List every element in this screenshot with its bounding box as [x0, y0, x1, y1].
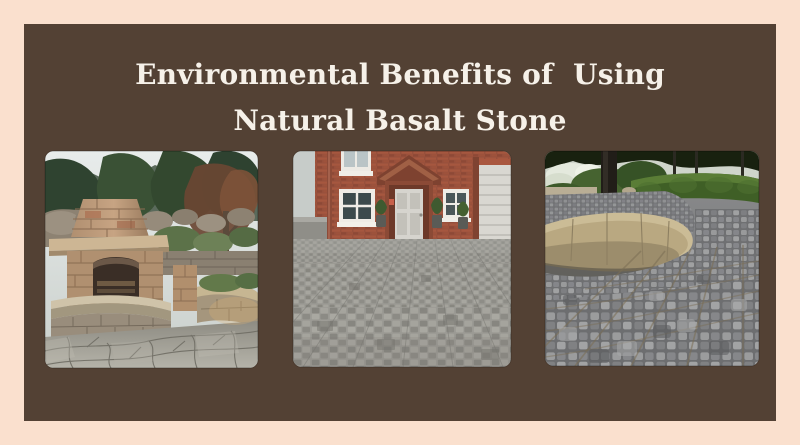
image-outdoor-stone-fireplace [45, 151, 258, 368]
title-line-1: Environmental Benefits of Using [24, 52, 776, 98]
image-brick-house-cobblestone-driveway [293, 151, 511, 367]
photo-gallery [45, 151, 759, 368]
photo-card-stone-fireplace [45, 151, 258, 368]
poster-title: Environmental Benefits of Using Natural … [24, 52, 776, 144]
title-line-2: Natural Basalt Stone [24, 98, 776, 144]
photo-card-brick-house-driveway [293, 151, 511, 367]
poster-canvas: Environmental Benefits of Using Natural … [0, 0, 800, 445]
poster-panel: Environmental Benefits of Using Natural … [24, 24, 776, 421]
image-curved-stone-step-cobble-driveway [545, 151, 759, 366]
photo-card-curved-step-driveway [545, 151, 759, 366]
